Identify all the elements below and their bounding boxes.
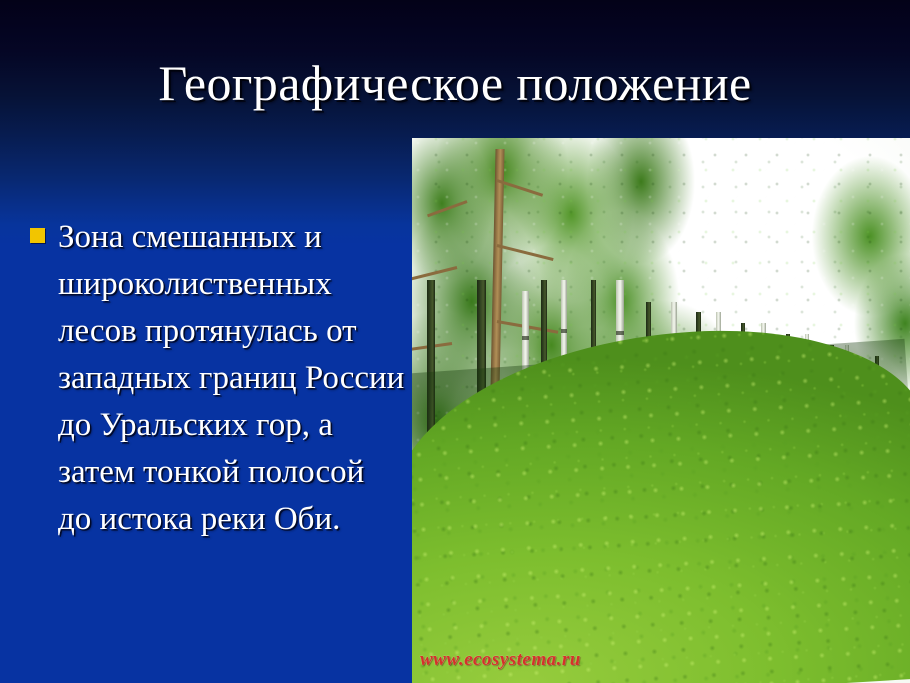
- photo-watermark: www.ecosystema.ru: [420, 649, 581, 671]
- slide-title-area: Географическое положение: [0, 52, 910, 122]
- presentation-slide: Географическое положение Зона смешанных …: [0, 0, 910, 683]
- forest-photo: www.ecosystema.ru: [412, 138, 910, 683]
- bullet-text: Зона смешанных и широколиственных лесов …: [58, 214, 405, 543]
- square-bullet-icon: [30, 228, 45, 243]
- page-title: Географическое положение: [158, 52, 751, 114]
- list-item: Зона смешанных и широколиственных лесов …: [30, 214, 405, 543]
- slide-body: Зона смешанных и широколиственных лесов …: [30, 214, 405, 543]
